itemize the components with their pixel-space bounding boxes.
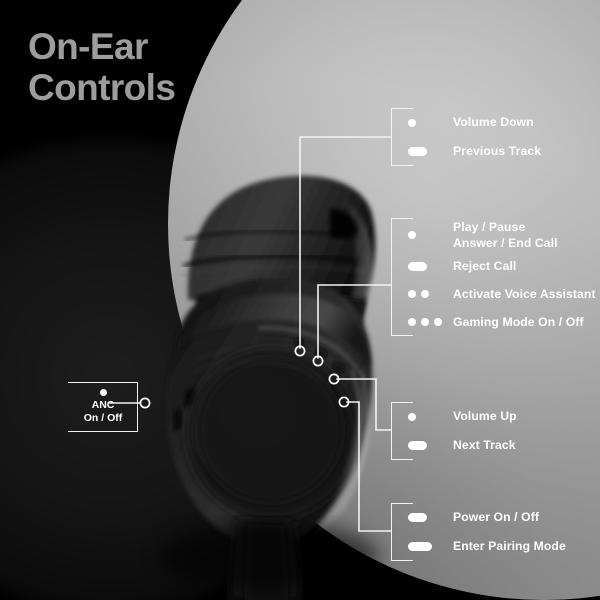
callout-row-next-track[interactable]: Next Track: [391, 433, 596, 459]
press-indicator: [391, 513, 453, 522]
press-hold-pill-icon: [408, 513, 427, 522]
on-ear-controls-infographic: On-Ear Controls ANC On / Off Volume Down…: [0, 0, 600, 600]
playback-call-group: Play / Pause Answer / End CallReject Cal…: [391, 218, 596, 336]
power-pairing-group: Power On / OffEnter Pairing Mode: [391, 503, 596, 561]
callout-row-play-pause-answer-end-call[interactable]: Play / Pause Answer / End Call: [391, 219, 596, 251]
callout-row-enter-pairing-mode[interactable]: Enter Pairing Mode: [391, 534, 596, 560]
callout-row-reject-call[interactable]: Reject Call: [391, 253, 596, 279]
press-dot-icon: [408, 119, 416, 127]
anc-callout[interactable]: ANC On / Off: [68, 382, 138, 432]
press-indicator: [391, 147, 453, 156]
callout-row-previous-track[interactable]: Previous Track: [391, 139, 596, 165]
leader-line-volume-down: [300, 137, 391, 348]
press-indicator: [391, 262, 453, 271]
press-dot-icon: [421, 318, 429, 326]
press-indicator: [391, 441, 453, 450]
press-dot-icon: [408, 318, 416, 326]
marker-anc: [140, 398, 149, 407]
callout-label-next-track: Next Track: [453, 437, 516, 453]
page-title: On-Ear Controls: [28, 26, 175, 109]
press-dot-icon: [100, 389, 107, 396]
callout-row-volume-down[interactable]: Volume Down: [391, 110, 596, 136]
press-indicator: [391, 318, 453, 326]
press-indicator: [391, 413, 453, 421]
callout-row-power-on-off[interactable]: Power On / Off: [391, 505, 596, 531]
callout-label-previous-track: Previous Track: [453, 143, 541, 159]
volume-up-next-track-group: Volume UpNext Track: [391, 402, 596, 460]
callout-row-activate-voice-assistant[interactable]: Activate Voice Assistant: [391, 281, 596, 307]
callout-row-volume-up[interactable]: Volume Up: [391, 404, 596, 430]
press-long-pill-icon: [408, 542, 432, 551]
callout-label-activate-voice-assistant: Activate Voice Assistant: [453, 286, 596, 302]
press-dot-icon: [408, 290, 416, 298]
leader-line-playback: [318, 285, 391, 358]
press-dot-icon: [434, 318, 442, 326]
callout-label-gaming-mode-on-off: Gaming Mode On / Off: [453, 314, 584, 330]
press-hold-pill-icon: [408, 262, 427, 271]
callout-label-volume-down: Volume Down: [453, 114, 534, 130]
press-hold-pill-icon: [408, 441, 427, 450]
press-dot-icon: [408, 231, 416, 239]
anc-label: ANC On / Off: [84, 399, 123, 425]
press-dot-icon: [421, 290, 429, 298]
callout-label-power-on-off: Power On / Off: [453, 509, 539, 525]
press-indicator: [391, 231, 453, 239]
leader-line-volume-up: [337, 379, 391, 430]
leader-line-power: [347, 402, 391, 531]
press-indicator: [391, 119, 453, 127]
press-indicator: [391, 542, 453, 551]
callout-label-reject-call: Reject Call: [453, 258, 516, 274]
callout-label-play-pause-answer-end-call: Play / Pause Answer / End Call: [453, 219, 558, 251]
callout-label-volume-up: Volume Up: [453, 408, 517, 424]
callout-row-gaming-mode-on-off[interactable]: Gaming Mode On / Off: [391, 309, 596, 335]
callout-label-enter-pairing-mode: Enter Pairing Mode: [453, 538, 566, 554]
press-dot-icon: [408, 413, 416, 421]
press-indicator: [391, 290, 453, 298]
volume-down-previous-track-group: Volume DownPrevious Track: [391, 108, 596, 166]
press-hold-pill-icon: [408, 147, 427, 156]
